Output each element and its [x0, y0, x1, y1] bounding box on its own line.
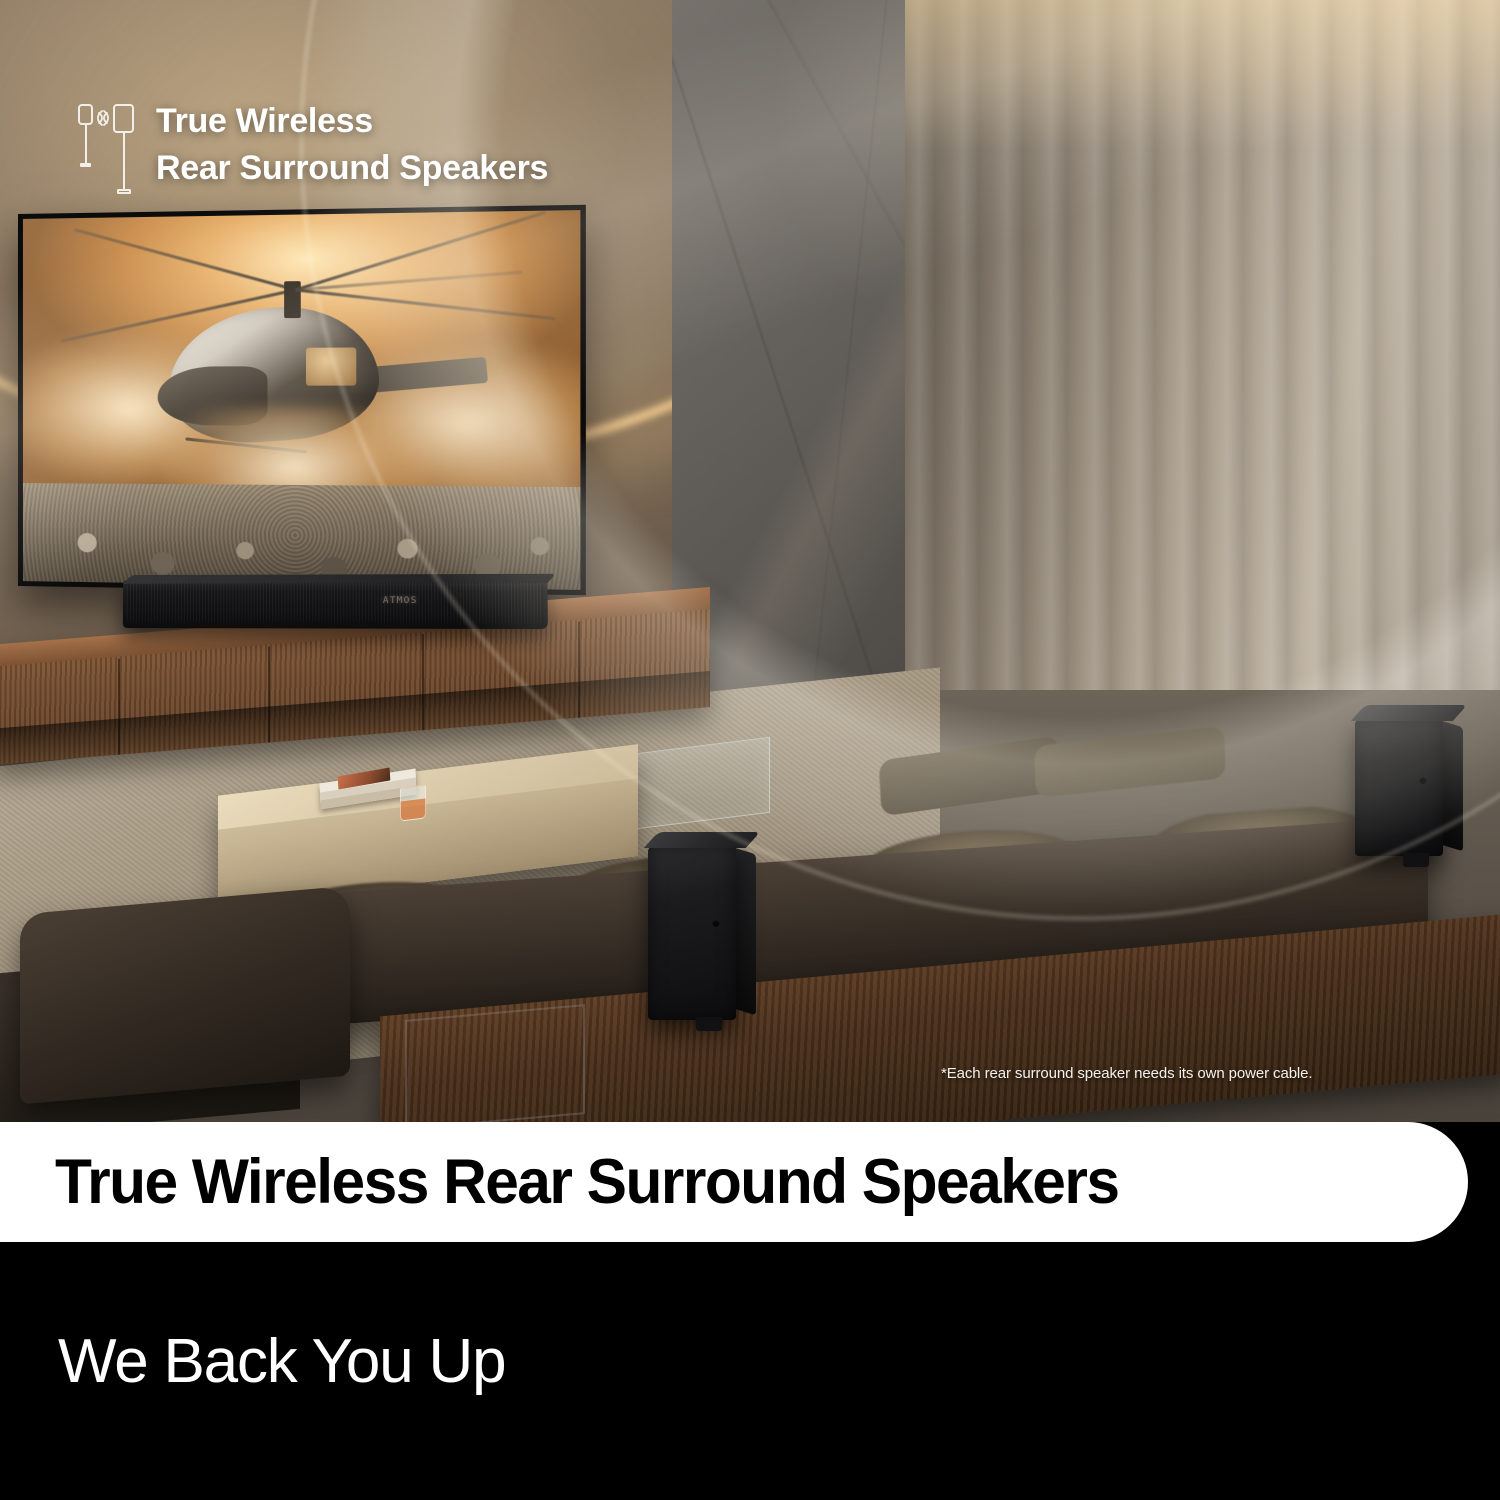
soundbar-display-text: ATMOS	[383, 596, 418, 606]
speaker-stand-small-icon	[78, 104, 93, 167]
rotor-blade	[74, 229, 296, 292]
speaker-base-icon	[80, 163, 91, 167]
sofa-armrest	[20, 886, 350, 1105]
glass-shelf-frame	[405, 1004, 585, 1122]
speaker-head-icon	[113, 104, 134, 133]
speaker-top-panel	[644, 832, 760, 848]
product-marketing-image: ATMOS	[0, 0, 1500, 1500]
soundbar: ATMOS	[123, 579, 548, 629]
speaker-head-icon	[78, 104, 93, 125]
living-room-scene: ATMOS	[0, 0, 1500, 1122]
overlay-headline-line2: Rear Surround Speakers	[156, 145, 548, 192]
television	[18, 205, 586, 596]
rotor-blade	[295, 271, 522, 292]
wireless-waves-left-icon	[94, 108, 110, 133]
speaker-foot	[1403, 853, 1429, 867]
speaker-port-icon	[1419, 776, 1427, 784]
headline-banner: True Wireless Rear Surround Speakers	[0, 1122, 1468, 1242]
rear-surround-speaker-right	[1355, 718, 1443, 856]
rear-surround-speaker-left	[648, 845, 736, 1020]
speaker-side-panel	[734, 848, 756, 1016]
speaker-stand-large-icon	[113, 104, 134, 194]
speaker-top-panel	[1351, 705, 1467, 721]
speaker-foot	[696, 1017, 722, 1031]
footer-section: We Back You Up	[0, 1242, 1500, 1500]
speaker-pole-icon	[123, 133, 125, 189]
overlay-headline: True Wireless Rear Surround Speakers	[156, 98, 548, 192]
banner-title: True Wireless Rear Surround Speakers	[55, 1146, 1119, 1218]
speaker-pole-icon	[85, 125, 87, 163]
speaker-port-icon	[712, 919, 720, 927]
soundbar-grille	[127, 582, 544, 623]
tv-screen	[23, 210, 580, 590]
overlay-headline-line1: True Wireless	[156, 98, 548, 145]
speaker-icons-group	[78, 98, 134, 194]
footnote-text: *Each rear surround speaker needs its ow…	[941, 1065, 1312, 1082]
speaker-side-panel	[1441, 721, 1463, 852]
window-curtains	[905, 0, 1500, 760]
speaker-front-panel	[648, 845, 736, 1020]
speaker-base-icon	[117, 189, 131, 194]
rotor-blade	[295, 289, 555, 321]
speaker-front-panel	[1355, 718, 1443, 856]
footer-tagline: We Back You Up	[58, 1326, 505, 1397]
helicopter-window	[306, 348, 356, 385]
overlay-callout: True Wireless Rear Surround Speakers	[78, 98, 548, 194]
drinking-glass	[400, 784, 426, 821]
